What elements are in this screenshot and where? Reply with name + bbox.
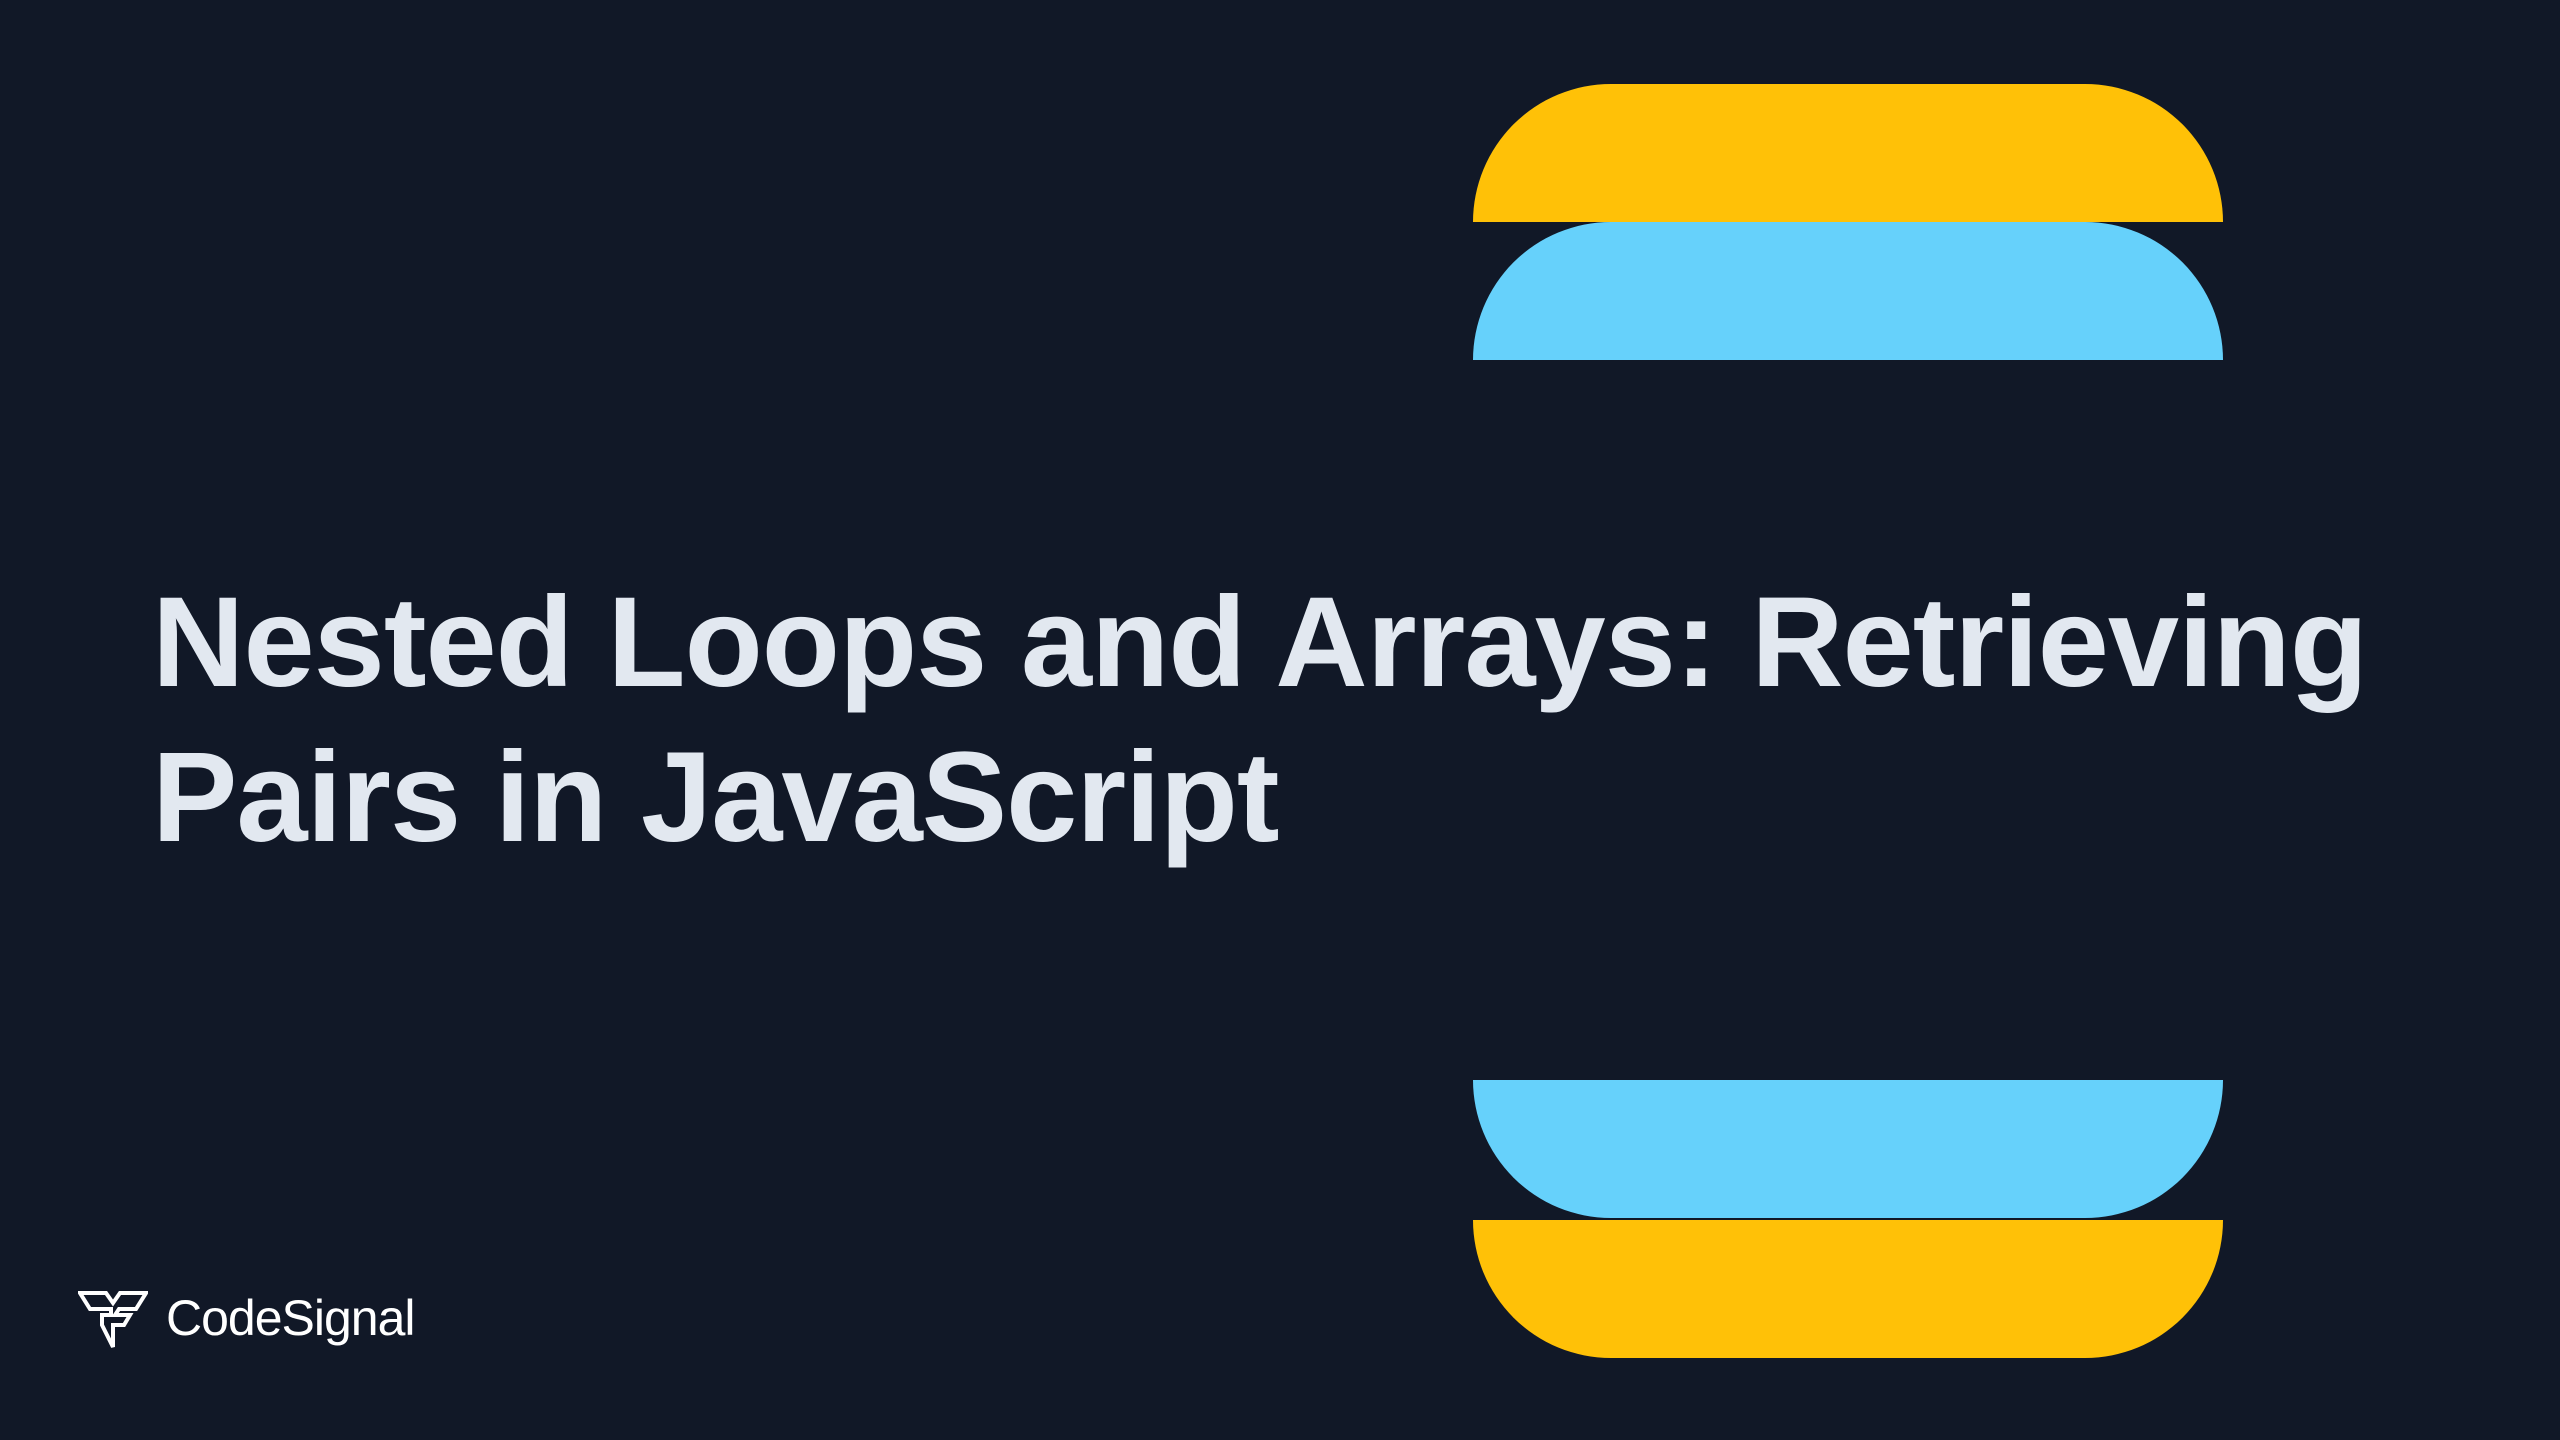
blue-dome-down-icon <box>1473 1080 2223 1218</box>
page-title-line-1: Nested Loops and Arrays: Retrieving <box>152 566 2412 721</box>
slide-canvas: Nested Loops and Arrays: Retrieving Pair… <box>0 0 2560 1440</box>
page-title-line-2: Pairs in JavaScript <box>152 721 2412 876</box>
codesignal-wings-mark-icon <box>78 1289 148 1351</box>
yellow-dome-up-icon <box>1473 84 2223 222</box>
svg-text:CodeSignal: CodeSignal <box>166 1293 415 1346</box>
yellow-dome-down-icon <box>1473 1220 2223 1358</box>
codesignal-wordmark: CodeSignal <box>166 1293 466 1347</box>
page-title: Nested Loops and Arrays: Retrieving Pair… <box>152 566 2412 876</box>
decoration-top <box>1473 84 2223 360</box>
decoration-bottom <box>1473 1080 2223 1360</box>
blue-dome-up-icon <box>1473 222 2223 360</box>
codesignal-logo: CodeSignal <box>78 1289 466 1351</box>
